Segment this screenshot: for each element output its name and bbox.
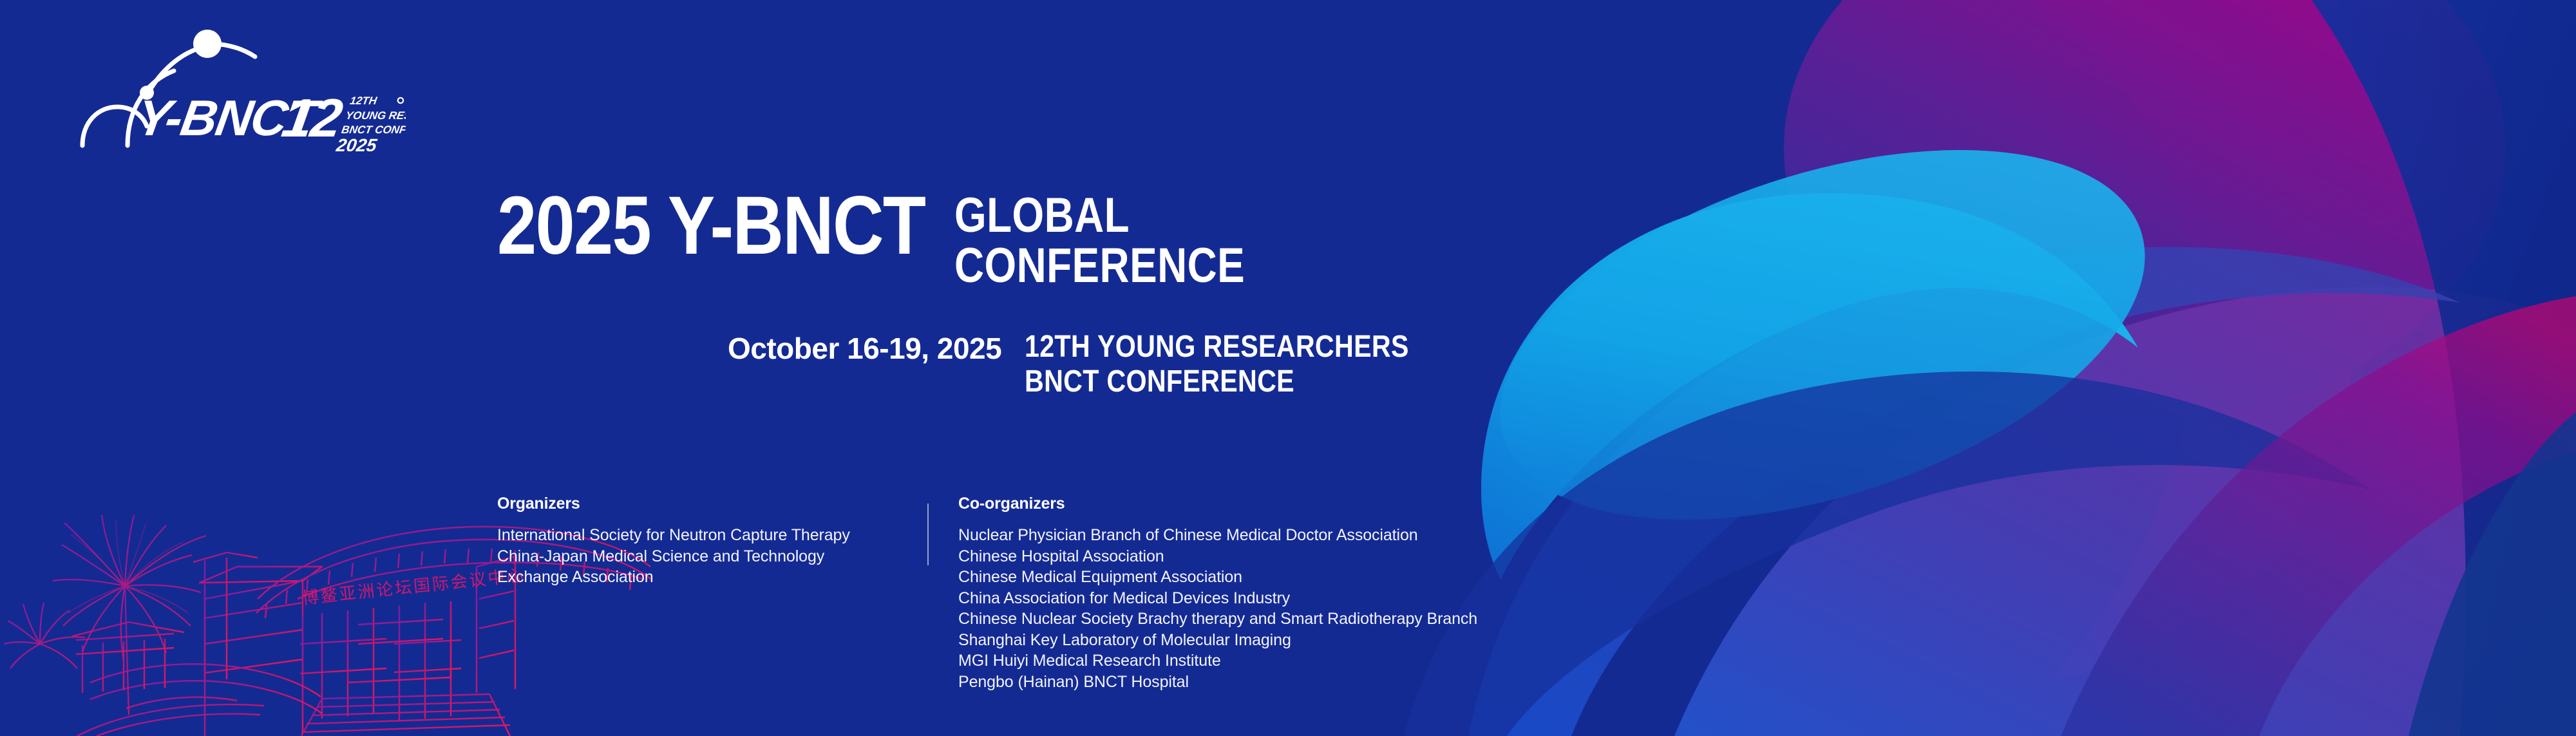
organizers-list: International Society for Neutron Captur…: [497, 525, 909, 588]
svg-text:12: 12: [278, 87, 346, 147]
organizers-section: Organizers International Society for Neu…: [497, 495, 1477, 692]
co-organizer-item: Nuclear Physician Branch of Chinese Medi…: [958, 525, 1477, 546]
co-organizers-list: Nuclear Physician Branch of Chinese Medi…: [958, 525, 1477, 692]
conference-banner: 博鳌亚洲论坛国际会议中心: [0, 0, 2576, 736]
co-organizer-item: Pengbo (Hainan) BNCT Hospital: [958, 672, 1477, 693]
headline-right-block: GLOBAL CONFERENCE: [954, 188, 1300, 292]
co-organizer-item: MGI Huiyi Medical Research Institute: [958, 650, 1477, 672]
logo-side-line-0: 12TH: [349, 95, 378, 107]
event-logo[interactable]: Y-BNCT 12 12TH YOUNG RESEARCHERS BNCT CO…: [71, 26, 406, 151]
co-organizer-item: Chinese Nuclear Society Brachy therapy a…: [958, 609, 1477, 630]
headline-block: 2025 Y-BNCT GLOBAL CONFERENCE: [497, 188, 1300, 292]
co-organizers-title: Co-organizers: [958, 495, 1477, 513]
event-subtitle: 12TH YOUNG RESEARCHERS BNCT CONFERENCE: [1025, 330, 1472, 399]
subtitle-line-1: 12TH YOUNG RESEARCHERS: [1025, 330, 1409, 364]
column-divider: [927, 504, 929, 565]
logo-side-line-2: BNCT CONFERENCE: [341, 124, 406, 136]
logo-dot-0: [398, 98, 403, 103]
organizers-title: Organizers: [497, 495, 909, 513]
co-organizer-item: Shanghai Key Laboratory of Molecular Ima…: [958, 630, 1477, 651]
logo-side-line-1: YOUNG RESEARCHERS: [345, 109, 406, 122]
headline-global: GLOBAL: [954, 191, 1245, 241]
co-organizer-item: Chinese Medical Equipment Association: [958, 567, 1477, 588]
headline-conference: CONFERENCE: [954, 241, 1245, 291]
organizer-item: China-Japan Medical Science and Technolo…: [497, 546, 909, 567]
organizer-item: International Society for Neutron Captur…: [497, 525, 909, 546]
date-subtitle-row: October 16-19, 2025 12TH YOUNG RESEARCHE…: [728, 334, 1472, 399]
organizer-item: Exchange Association: [497, 567, 909, 588]
headline-main-title: 2025 Y-BNCT: [497, 188, 925, 264]
logo-wordmark: Y-BNCT 12: [133, 87, 346, 147]
subtitle-line-2: BNCT CONFERENCE: [1025, 364, 1409, 399]
co-organizer-item: Chinese Hospital Association: [958, 546, 1477, 567]
logo-side-line-3: 2025: [334, 135, 379, 151]
event-date: October 16-19, 2025: [728, 334, 1001, 363]
organizers-column: Organizers International Society for Neu…: [497, 495, 909, 692]
co-organizer-item: China Association for Medical Devices In…: [958, 588, 1477, 609]
co-organizers-column: Co-organizers Nuclear Physician Branch o…: [927, 495, 1477, 692]
logo-side-text: 12TH YOUNG RESEARCHERS BNCT CONFERENCE 2…: [334, 95, 406, 151]
